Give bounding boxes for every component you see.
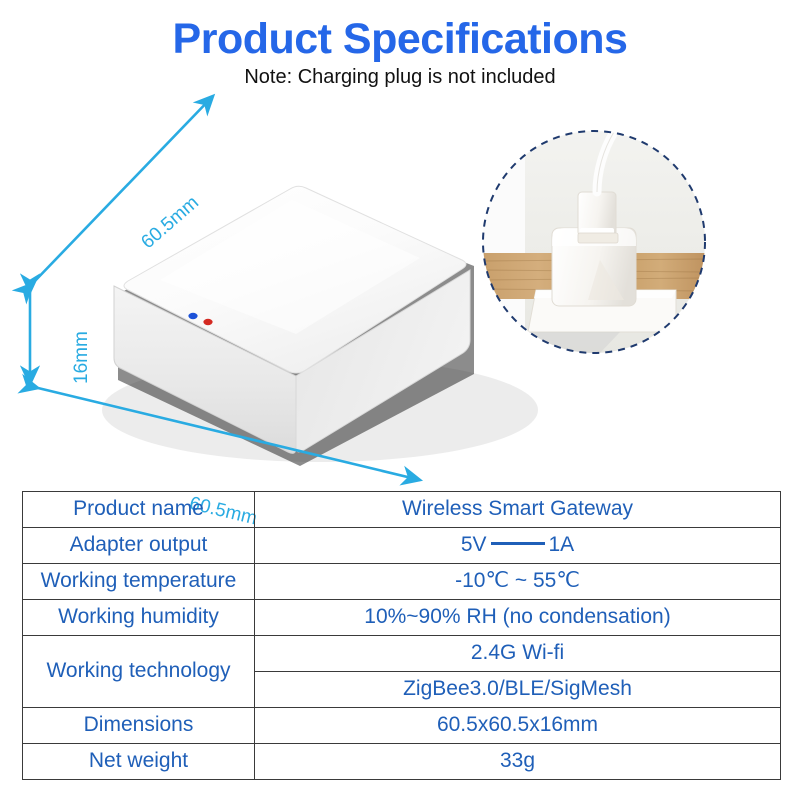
specifications-table: Product name Wireless Smart Gateway Adap…: [22, 491, 781, 780]
height-dimension-label: 16mm: [72, 331, 91, 384]
spec-key-working-technology: Working technology: [23, 636, 255, 708]
inset-left-panel: [483, 131, 525, 353]
spec-value-working-humidity: 10%~90% RH (no condensation): [255, 600, 781, 636]
dc-current-icon: [491, 542, 545, 545]
product-illustration-svg: [0, 88, 800, 488]
adapter-voltage: 5V: [461, 533, 487, 556]
spec-value-net-weight: 33g: [255, 744, 781, 780]
product-illustration: 60.5mm 16mm 60.5mm: [0, 88, 800, 488]
page-title: Product Specifications: [0, 18, 800, 61]
spec-value-working-technology-zigbee: ZigBee3.0/BLE/SigMesh: [255, 672, 781, 708]
spec-value-adapter-output: 5V1A: [255, 528, 781, 564]
charging-plug-inset-scene: [483, 131, 705, 353]
page-subtitle-note: Note: Charging plug is not included: [0, 67, 800, 87]
spec-value-dimensions: 60.5x60.5x16mm: [255, 708, 781, 744]
inset-floor-shadow: [483, 332, 620, 353]
adapter-current: 1A: [549, 533, 575, 556]
spec-value-working-technology-wifi: 2.4G Wi-fi: [255, 636, 781, 672]
spec-key-working-humidity: Working humidity: [23, 600, 255, 636]
product-specifications-page: Product Specifications Note: Charging pl…: [0, 0, 800, 800]
spec-key-net-weight: Net weight: [23, 744, 255, 780]
table-row-dimensions: Dimensions 60.5x60.5x16mm: [23, 708, 781, 744]
inset-usb-port: [578, 233, 618, 243]
table-row-adapter-output: Adapter output 5V1A: [23, 528, 781, 564]
blue-led-indicator: [188, 313, 197, 319]
table-row-working-humidity: Working humidity 10%~90% RH (no condensa…: [23, 600, 781, 636]
table-row-working-temperature: Working temperature -10℃ ~ 55℃: [23, 564, 781, 600]
spec-key-product-name: Product name: [23, 492, 255, 528]
table-row-net-weight: Net weight 33g: [23, 744, 781, 780]
red-led-indicator: [203, 319, 212, 325]
spec-key-working-temperature: Working temperature: [23, 564, 255, 600]
table-row-product-name: Product name Wireless Smart Gateway: [23, 492, 781, 528]
table-row-working-technology-wifi: Working technology 2.4G Wi-fi: [23, 636, 781, 672]
spec-value-working-temperature: -10℃ ~ 55℃: [255, 564, 781, 600]
spec-key-adapter-output: Adapter output: [23, 528, 255, 564]
spec-value-product-name: Wireless Smart Gateway: [255, 492, 781, 528]
spec-key-dimensions: Dimensions: [23, 708, 255, 744]
